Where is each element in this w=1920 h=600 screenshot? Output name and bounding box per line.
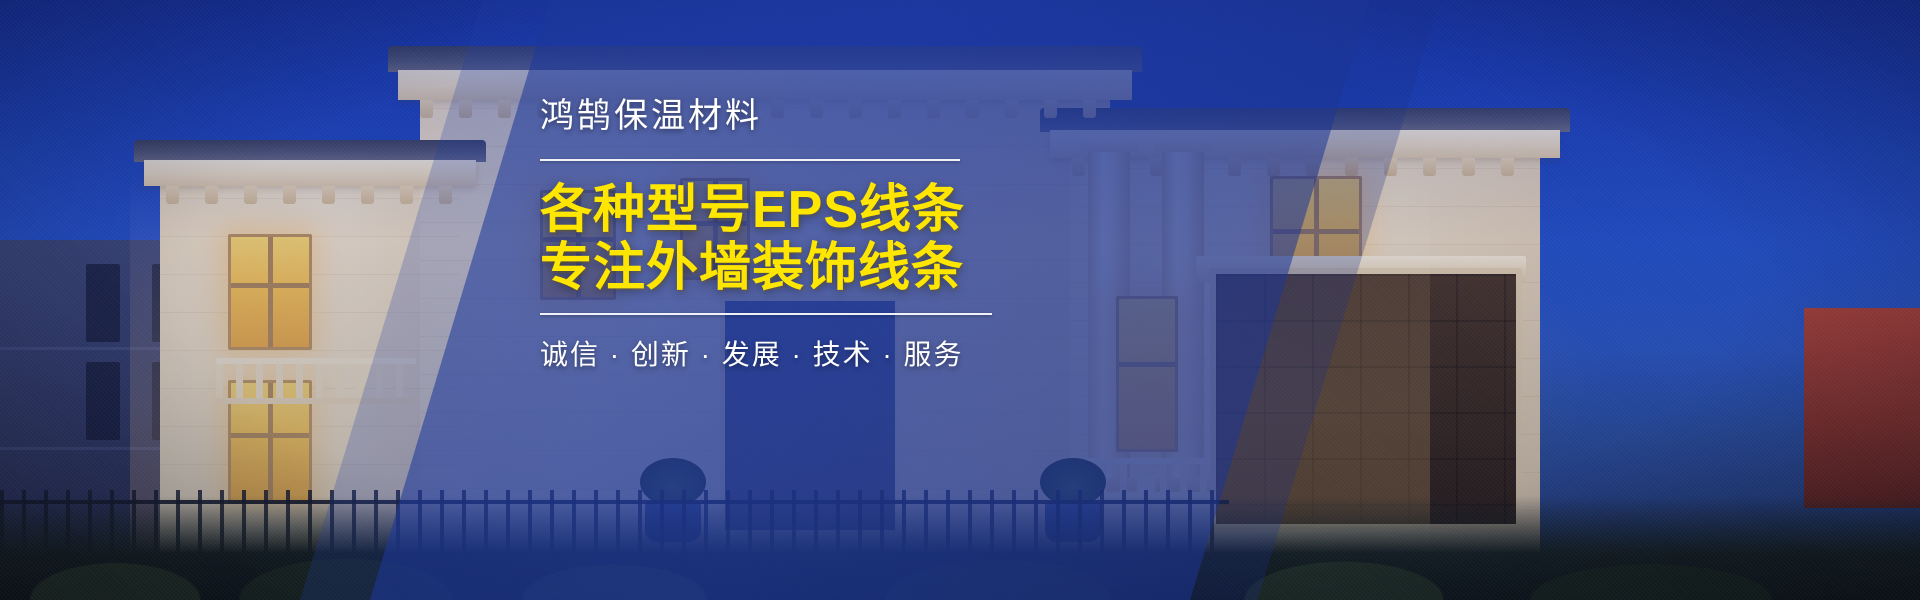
headline-group: 各种型号EPS线条 专注外墙装饰线条 (540, 181, 1060, 297)
divider-top (540, 159, 960, 161)
banner-text-block: 鸿鹄保温材料 各种型号EPS线条 专注外墙装饰线条 诚信 · 创新 · 发展 ·… (540, 96, 1060, 373)
headline-line-1: 各种型号EPS线条 (540, 181, 1060, 239)
brand-title: 鸿鹄保温材料 (540, 96, 1060, 137)
divider-bottom (540, 313, 992, 315)
hero-banner: 鸿鹄保温材料 各种型号EPS线条 专注外墙装饰线条 诚信 · 创新 · 发展 ·… (0, 0, 1920, 600)
tagline: 诚信 · 创新 · 发展 · 技术 · 服务 (540, 333, 1060, 373)
headline-line-2: 专注外墙装饰线条 (540, 239, 1060, 297)
